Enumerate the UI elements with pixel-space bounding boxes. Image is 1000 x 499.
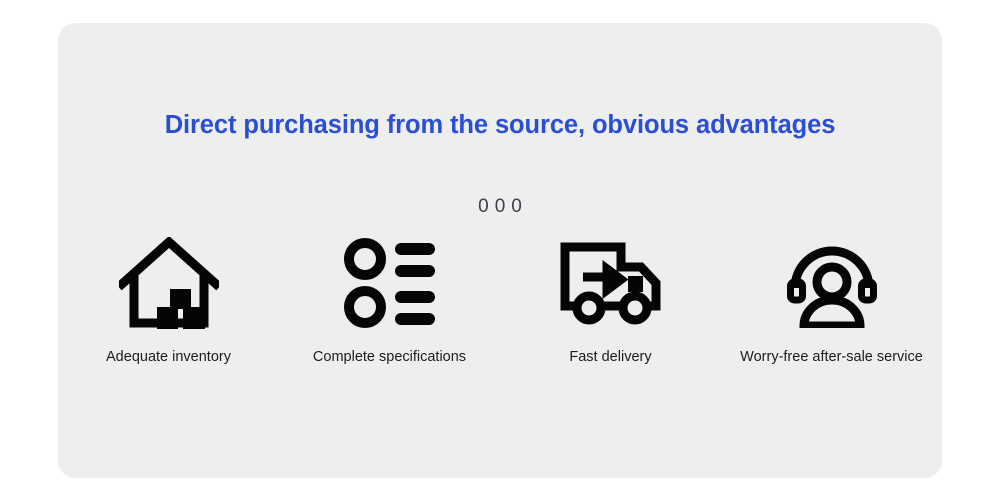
page-title: Direct purchasing from the source, obvio… (58, 111, 942, 140)
divider-glyph-2: 0 (495, 197, 506, 216)
feature-label-delivery: Fast delivery (569, 349, 651, 365)
feature-item-delivery: Fast delivery (506, 235, 716, 365)
divider-glyph-1: 0 (478, 197, 489, 216)
specification-list-icon (342, 235, 438, 330)
page-root: Direct purchasing from the source, obvio… (0, 0, 1000, 499)
feature-item-specifications: Complete specifications (285, 235, 495, 365)
title-divider: 0 0 0 (58, 197, 942, 216)
features-row: Adequate inventory Complete specificatio… (58, 235, 942, 365)
feature-item-inventory: Adequate inventory (64, 235, 274, 365)
warehouse-inventory-icon (119, 235, 219, 330)
feature-label-support: Worry-free after-sale service (740, 349, 923, 365)
divider-glyph-3: 0 (511, 197, 522, 216)
advantages-card: Direct purchasing from the source, obvio… (58, 23, 942, 478)
feature-item-support: Worry-free after-sale service (727, 235, 937, 365)
feature-label-inventory: Adequate inventory (106, 349, 231, 365)
delivery-truck-icon (559, 235, 663, 330)
feature-label-specifications: Complete specifications (313, 349, 466, 365)
customer-support-headset-icon (783, 235, 881, 330)
